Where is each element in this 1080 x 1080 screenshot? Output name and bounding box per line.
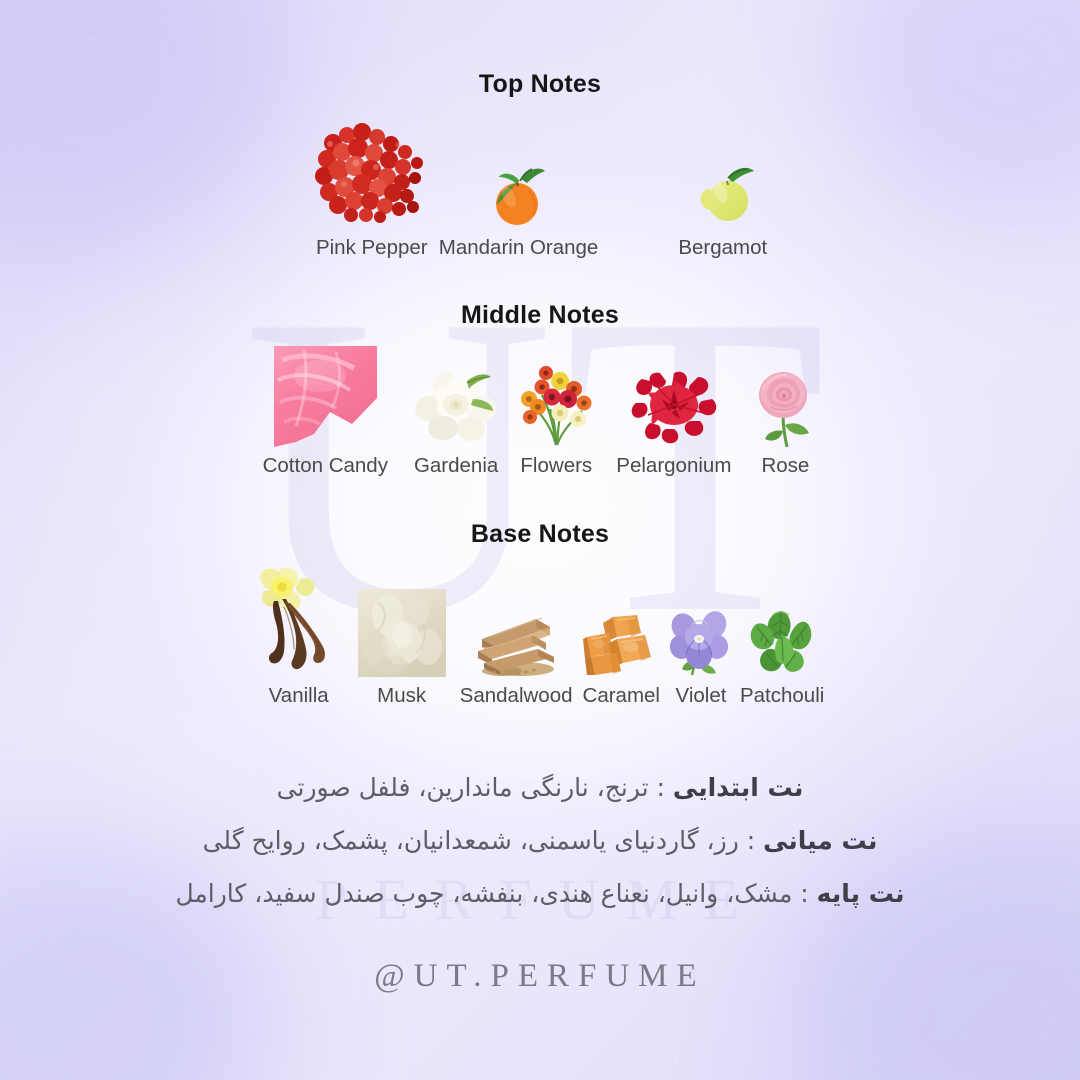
brand-handle[interactable]: @UT.PERFUME bbox=[0, 958, 1080, 995]
persian-notes-list: نت ابتدایی : ترنج، نارنگی ماندارین، فلفل… bbox=[0, 775, 1080, 906]
note-pink-pepper[interactable]: Pink Pepper bbox=[313, 121, 431, 259]
note-caramel[interactable]: Caramel bbox=[583, 611, 660, 707]
note-bergamot[interactable]: Bergamot bbox=[678, 159, 767, 259]
note-label: Pink Pepper bbox=[316, 238, 428, 259]
flowers-image bbox=[516, 365, 596, 452]
section-middle-notes: Middle Notes bbox=[0, 259, 1080, 477]
note-sandalwood[interactable]: Sandalwood bbox=[460, 605, 573, 707]
note-label: Rose bbox=[761, 456, 809, 477]
note-flowers[interactable]: Flowers bbox=[516, 365, 596, 477]
middle-notes-row: Cotton Candy bbox=[0, 346, 1080, 477]
note-label: Mandarin Orange bbox=[439, 238, 599, 259]
perfume-notes-card: UT PERFUME Top Notes bbox=[0, 0, 1080, 1080]
note-label: Musk bbox=[377, 686, 426, 707]
note-label: Flowers bbox=[520, 456, 592, 477]
note-cotton-candy[interactable]: Cotton Candy bbox=[263, 346, 388, 477]
musk-image bbox=[358, 589, 446, 682]
section-title-top-notes: Top Notes bbox=[0, 70, 1080, 99]
pink-pepper-image bbox=[313, 121, 431, 234]
persian-line-top-notes: نت ابتدایی : ترنج، نارنگی ماندارین، فلفل… bbox=[0, 775, 1080, 800]
persian-key: نت پایه bbox=[817, 879, 905, 908]
note-patchouli[interactable]: Patchouli bbox=[740, 605, 824, 707]
patchouli-image bbox=[745, 605, 819, 682]
gardenia-image bbox=[415, 365, 497, 452]
note-label: Bergamot bbox=[678, 238, 767, 259]
sandalwood-image bbox=[466, 605, 566, 682]
mandarin-orange-image bbox=[485, 161, 553, 234]
top-notes-row: Pink Pepper bbox=[0, 121, 1080, 259]
persian-key: نت ابتدایی bbox=[673, 773, 803, 802]
note-label: Cotton Candy bbox=[263, 456, 388, 477]
note-label: Patchouli bbox=[740, 686, 824, 707]
note-musk[interactable]: Musk bbox=[358, 589, 446, 707]
persian-line-middle-notes: نت میانی : رز، گاردنیای یاسمنی، شمعدانیا… bbox=[0, 828, 1080, 853]
persian-key: نت میانی bbox=[763, 826, 877, 855]
persian-value: ترنج، نارنگی ماندارین، فلفل صورتی bbox=[277, 773, 649, 802]
note-label: Gardenia bbox=[414, 456, 498, 477]
persian-line-base-notes: نت پایه : مشک، وانیل، نعناع هندی، بنفشه،… bbox=[0, 881, 1080, 906]
section-top-notes: Top Notes bbox=[0, 0, 1080, 259]
notes-content: Top Notes bbox=[0, 0, 1080, 995]
cotton-candy-image bbox=[274, 346, 377, 452]
persian-separator: : bbox=[649, 773, 673, 802]
note-mandarin-orange[interactable]: Mandarin Orange bbox=[439, 161, 599, 259]
section-base-notes: Base Notes bbox=[0, 476, 1080, 707]
persian-separator: : bbox=[792, 879, 816, 908]
base-notes-row: Vanilla bbox=[0, 565, 1080, 707]
note-label: Pelargonium bbox=[616, 456, 731, 477]
persian-value: مشک، وانیل، نعناع هندی، بنفشه، چوب صندل … bbox=[175, 879, 792, 908]
caramel-image bbox=[583, 611, 659, 682]
violet-image bbox=[668, 605, 734, 682]
note-vanilla[interactable]: Vanilla bbox=[256, 565, 342, 707]
persian-value: رز، گاردنیای یاسمنی، شمعدانیان، پشمک، رو… bbox=[203, 826, 739, 855]
section-title-base-notes: Base Notes bbox=[0, 520, 1080, 549]
note-rose[interactable]: Rose bbox=[753, 367, 817, 477]
pelargonium-image bbox=[628, 367, 720, 452]
bergamot-image bbox=[688, 159, 758, 234]
note-label: Violet bbox=[676, 686, 727, 707]
note-violet[interactable]: Violet bbox=[668, 605, 734, 707]
note-gardenia[interactable]: Gardenia bbox=[414, 365, 498, 477]
section-title-middle-notes: Middle Notes bbox=[0, 301, 1080, 330]
note-label: Caramel bbox=[583, 686, 660, 707]
note-pelargonium[interactable]: Pelargonium bbox=[616, 367, 731, 477]
persian-separator: : bbox=[739, 826, 763, 855]
note-label: Sandalwood bbox=[460, 686, 573, 707]
rose-image bbox=[753, 367, 817, 452]
note-label: Vanilla bbox=[269, 686, 329, 707]
vanilla-image bbox=[256, 565, 342, 682]
